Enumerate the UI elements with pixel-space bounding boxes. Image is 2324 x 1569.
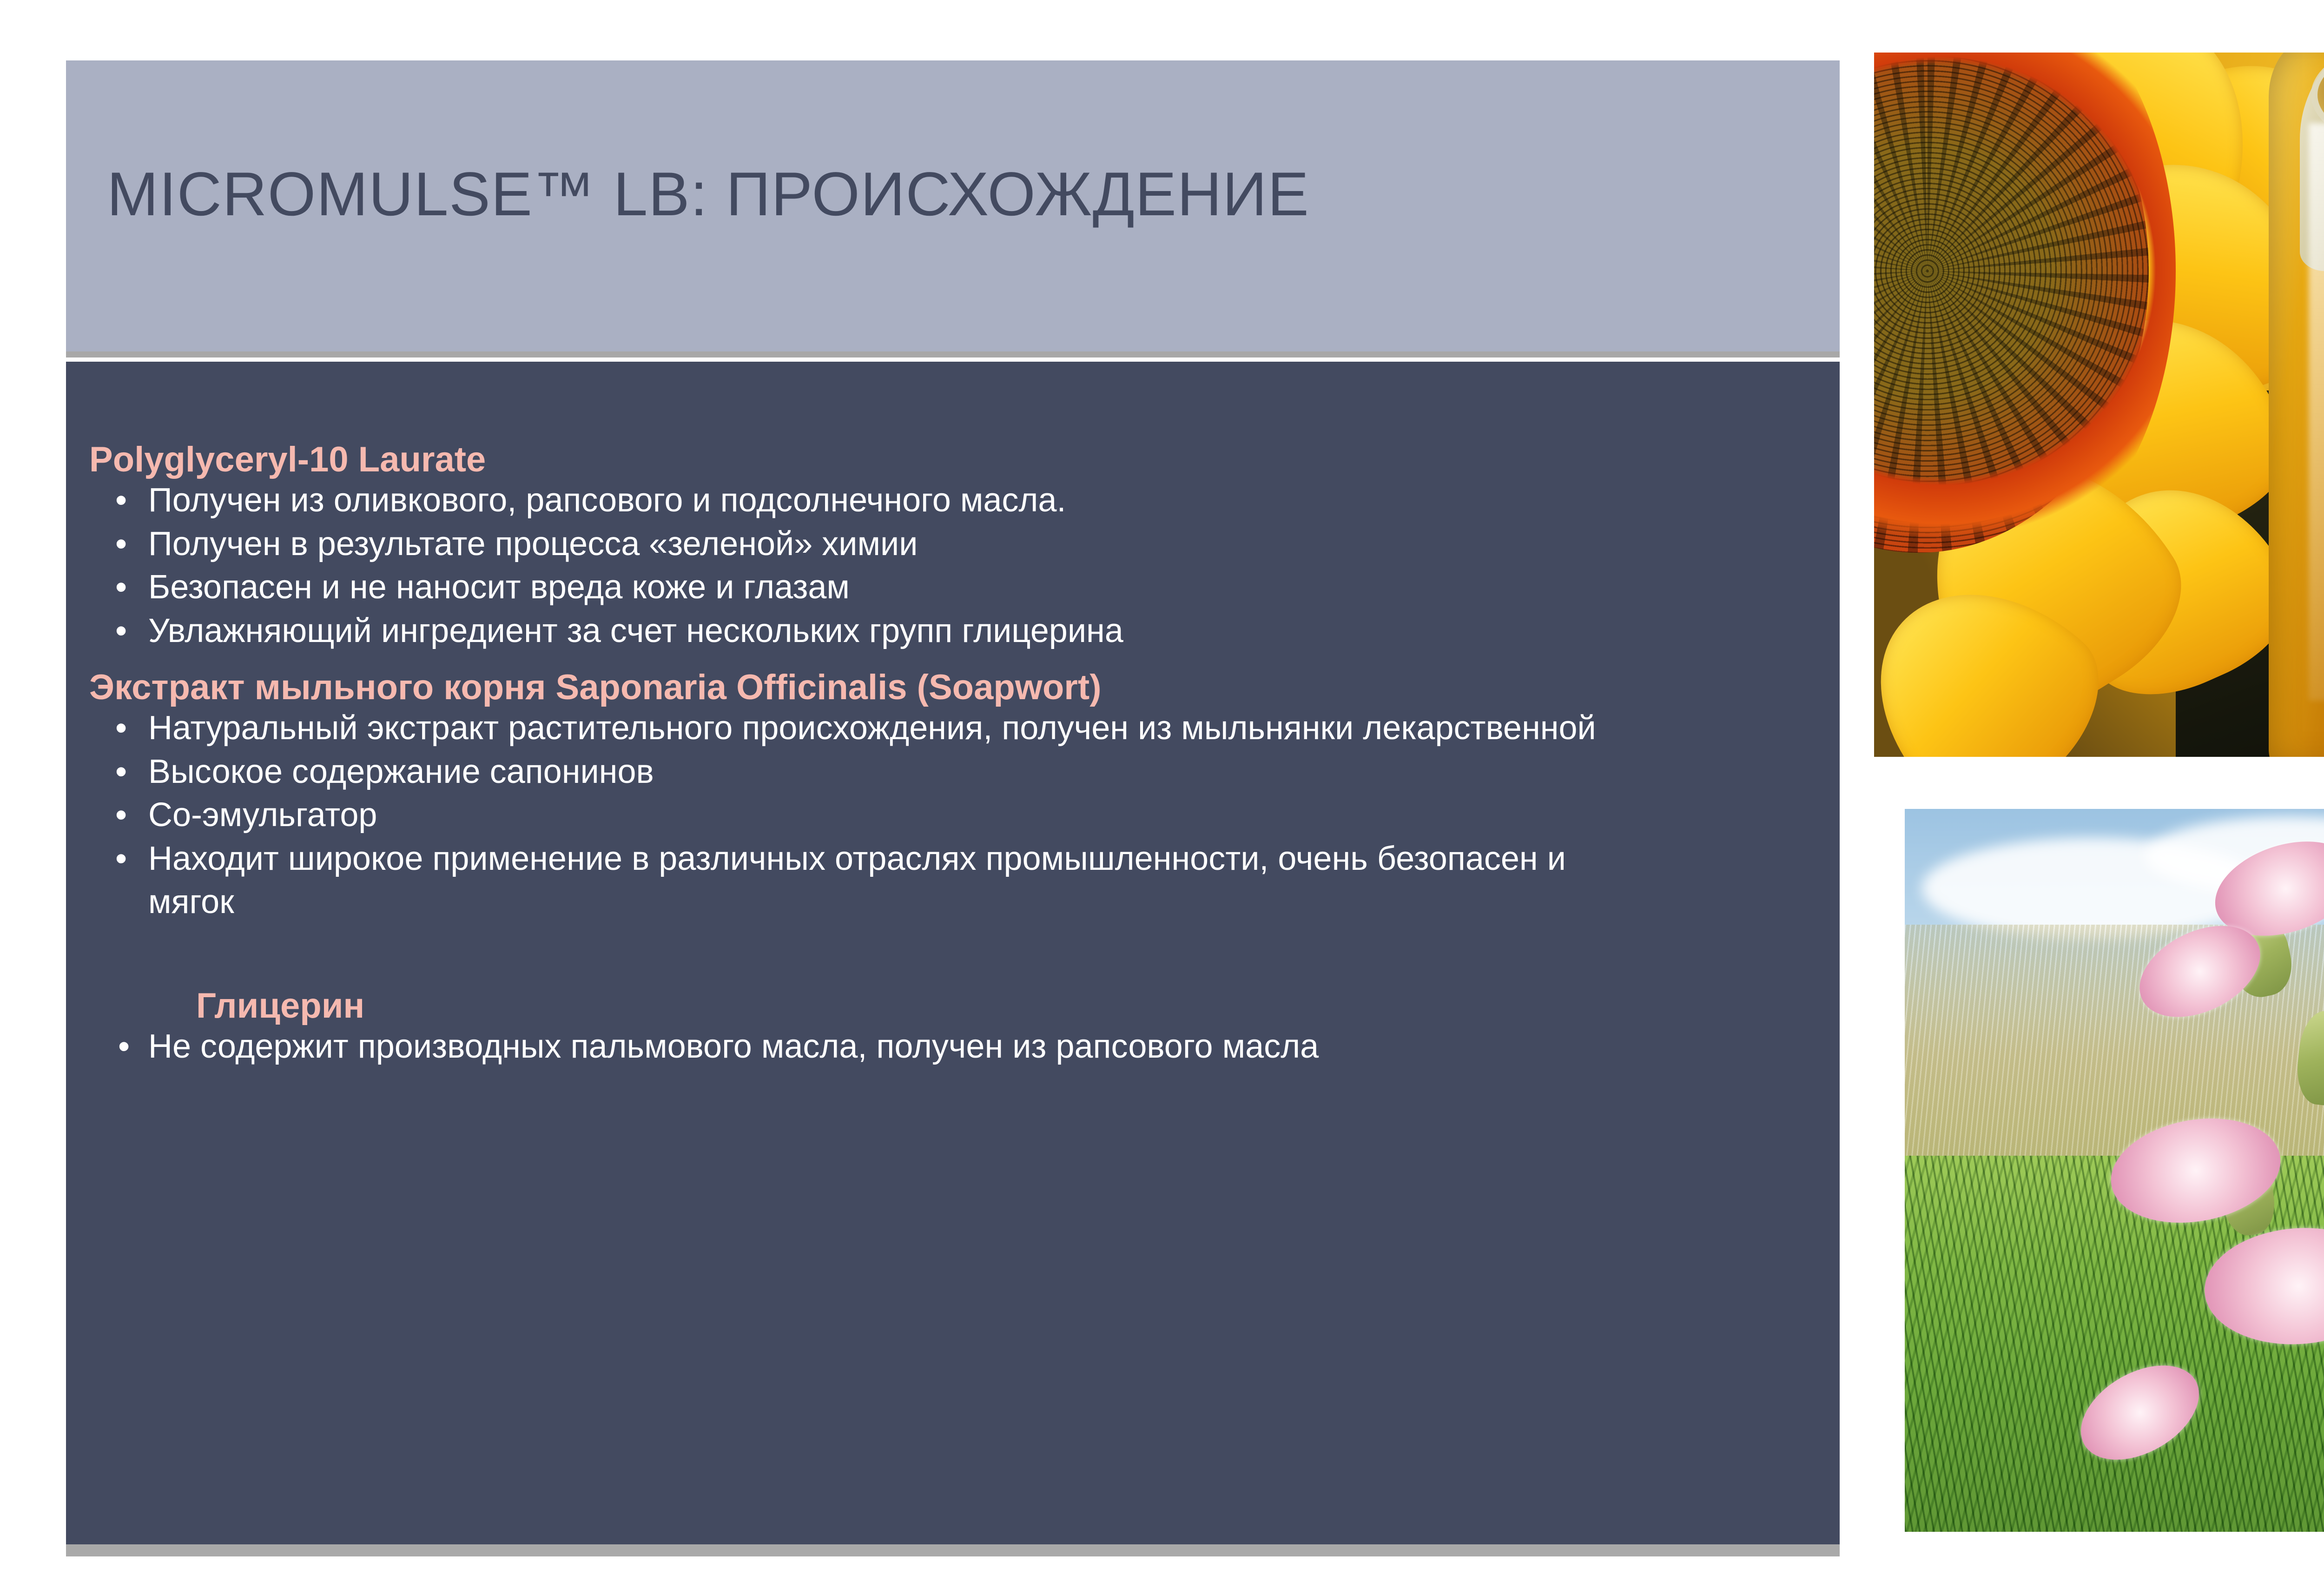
group-heading-soapwort: Экстракт мыльного корня Saponaria Offici… (89, 669, 1800, 707)
bullet-list-soapwort: • Натуральный экстракт растительного про… (89, 707, 1800, 924)
group-heading-polyglyceryl: Polyglyceryl-10 Laurate (89, 441, 1800, 479)
list-item-label: Высокое содержание сапонинов (148, 750, 1800, 794)
page-title: MICROMULSE™ LB: ПРОИСХОЖДЕНИЕ (107, 164, 1309, 225)
list-item-label: Натуральный экстракт растительного проис… (148, 707, 1623, 750)
slide-body-panel-shadow (66, 1544, 1840, 1556)
list-item: • Находит широкое применение в различных… (89, 837, 1623, 924)
list-item: • Со-эмульгатор (89, 794, 1800, 837)
content-group-soapwort: Экстракт мыльного корня Saponaria Offici… (89, 669, 1800, 924)
list-item-label: Не содержит производных пальмового масла… (148, 1025, 1623, 1069)
bullet-icon: • (89, 523, 148, 566)
photo-soapwort (1905, 809, 2324, 1532)
list-item-label: Со-эмульгатор (148, 794, 1800, 837)
list-item: • Увлажняющий ингредиент за счет несколь… (89, 609, 1800, 653)
group-heading-glycerin: Глицерин (196, 987, 1800, 1025)
bullet-icon: • (89, 609, 148, 653)
bullet-icon: • (89, 750, 148, 794)
slide-title-bar-shadow (66, 351, 1840, 357)
list-item: • Получен из оливкового, рапсового и под… (89, 479, 1800, 523)
bullet-list-glycerin: • Не содержит производных пальмового мас… (89, 1025, 1800, 1069)
list-item: • Натуральный экстракт растительного про… (89, 707, 1623, 750)
bullet-icon: • (89, 479, 148, 523)
oil-bottle-highlight (2309, 123, 2324, 701)
list-item-label: Получен из оливкового, рапсового и подсо… (148, 479, 1800, 523)
list-item: • Высокое содержание сапонинов (89, 750, 1800, 794)
list-item-label: Получен в результате процесса «зеленой» … (148, 523, 1800, 566)
list-item: • Безопасен и не наносит вреда коже и гл… (89, 566, 1800, 609)
bullet-list-polyglyceryl: • Получен из оливкового, рапсового и под… (89, 479, 1800, 653)
bullet-icon: • (89, 837, 148, 881)
content-group-glycerin: Глицерин • Не содержит производных пальм… (89, 987, 1800, 1069)
content-group-polyglyceryl: Polyglyceryl-10 Laurate • Получен из оли… (89, 441, 1800, 653)
slide-body-panel: Polyglyceryl-10 Laurate • Получен из оли… (66, 362, 1840, 1544)
photo-sunflower-oil (1874, 53, 2324, 757)
list-item-label: Безопасен и не наносит вреда коже и глаз… (148, 566, 1800, 609)
list-item-label: Увлажняющий ингредиент за счет нескольки… (148, 609, 1800, 653)
list-item: • Получен в результате процесса «зеленой… (89, 523, 1800, 566)
bullet-icon: • (89, 1025, 148, 1069)
list-item-label: Находит широкое применение в различных о… (148, 837, 1623, 924)
bullet-icon: • (89, 566, 148, 609)
bullet-icon: • (89, 794, 148, 837)
slide-content: Polyglyceryl-10 Laurate • Получен из оли… (66, 362, 1840, 1544)
list-item: • Не содержит производных пальмового мас… (89, 1025, 1623, 1069)
bullet-icon: • (89, 707, 148, 750)
